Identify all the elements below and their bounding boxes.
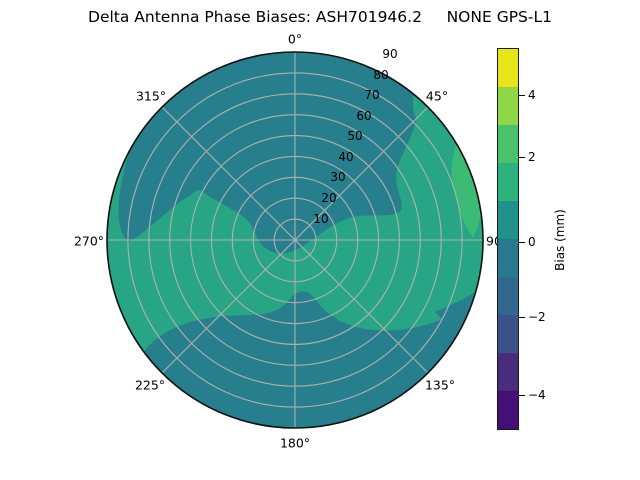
- azimuth-label-225: 225°: [135, 378, 165, 393]
- azimuth-label-270: 270°: [74, 234, 104, 249]
- polar-axes: 10 20 30 40 50 60 70 80 90: [105, 50, 485, 430]
- radial-tick-20: 20: [321, 191, 336, 205]
- colorbar-band-3: [498, 163, 518, 201]
- colorbar-band-2: [498, 125, 518, 163]
- radial-tick-80: 80: [373, 68, 388, 82]
- radial-tick-60: 60: [356, 109, 371, 123]
- colorbar-band-7: [498, 315, 518, 353]
- colorbar-tick-2: [519, 157, 525, 158]
- figure-title: Delta Antenna Phase Biases: ASH701946.2 …: [0, 8, 640, 26]
- figure-canvas: Delta Antenna Phase Biases: ASH701946.2 …: [0, 0, 640, 480]
- colorbar-band-8: [498, 353, 518, 391]
- colorbar-band-6: [498, 277, 518, 315]
- radial-tick-50: 50: [347, 129, 362, 143]
- colorbar-band-5: [498, 239, 518, 277]
- colorbar-ticklabel-n4: −4: [528, 388, 546, 402]
- colorbar-ticklabel-2: 2: [528, 150, 536, 164]
- colorbar-band-1: [498, 87, 518, 125]
- radial-tick-70: 70: [364, 88, 379, 102]
- azimuth-label-180: 180°: [280, 436, 310, 451]
- colorbar-tick-n4: [519, 395, 525, 396]
- colorbar-band-0: [498, 49, 518, 87]
- colorbar-tick-4: [519, 95, 525, 96]
- colorbar-ticklabel-0: 0: [528, 235, 536, 249]
- colorbar-ticklabel-n2: −2: [528, 310, 546, 324]
- colorbar-band-9: [498, 391, 518, 429]
- colorbar-band-4: [498, 201, 518, 239]
- radial-tick-90: 90: [382, 47, 397, 61]
- polar-plot-svg: [105, 50, 485, 430]
- azimuth-label-135: 135°: [425, 378, 455, 393]
- radial-tick-30: 30: [330, 170, 345, 184]
- azimuth-label-45: 45°: [426, 89, 448, 104]
- azimuth-label-0: 0°: [288, 32, 302, 47]
- colorbar-axis-label: Bias (mm): [553, 209, 567, 271]
- polar-angular-gridlines: [107, 52, 483, 428]
- colorbar-ticklabel-4: 4: [528, 88, 536, 102]
- colorbar-tick-n2: [519, 317, 525, 318]
- azimuth-label-315: 315°: [136, 89, 166, 104]
- radial-tick-40: 40: [338, 150, 353, 164]
- colorbar-tick-0: [519, 242, 525, 243]
- colorbar: [497, 48, 519, 430]
- radial-tick-10: 10: [313, 212, 328, 226]
